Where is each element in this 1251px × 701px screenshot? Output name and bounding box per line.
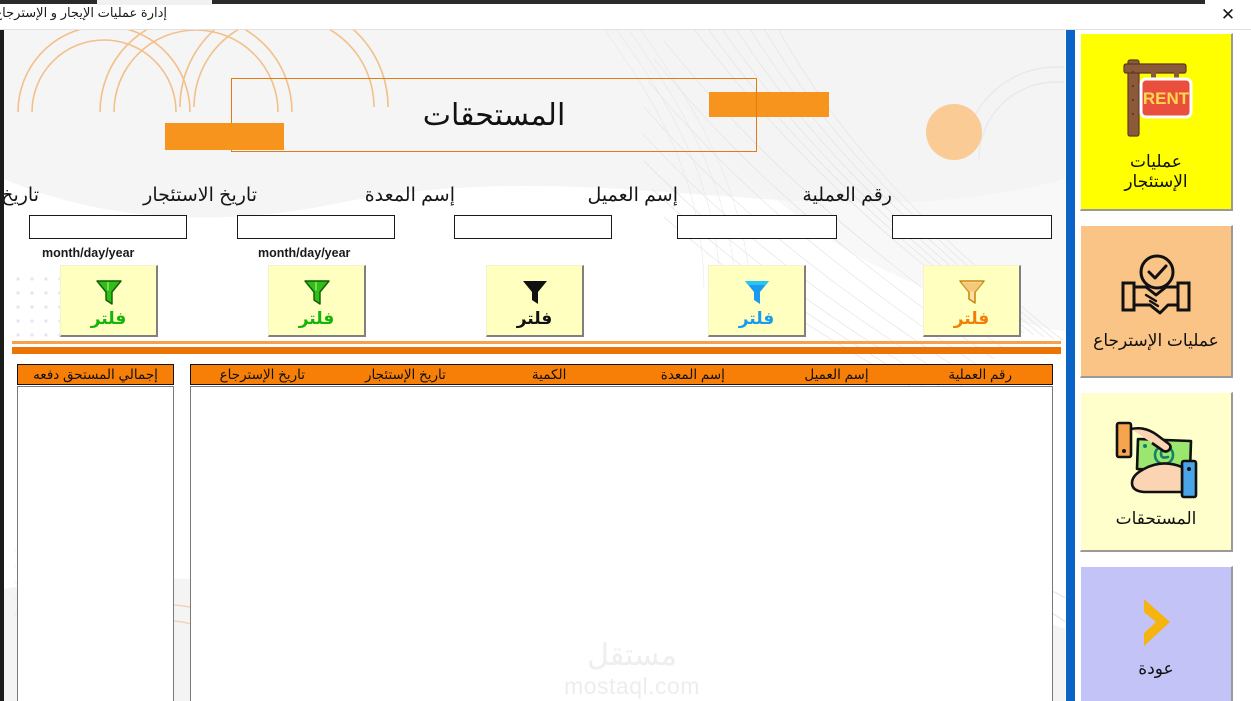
main-content: المستحقات رقم العملية فلتر إسم العميل فل… bbox=[4, 29, 1065, 701]
filter-button-client-name[interactable]: فلتر bbox=[708, 265, 806, 337]
column-header-client-name: إسم العميل bbox=[765, 367, 909, 383]
column-header-equipment-name: إسم المعدة bbox=[621, 367, 765, 383]
handshake-check-icon bbox=[1116, 251, 1196, 327]
column-header-rent-date: تاريخ الإستئجار bbox=[334, 367, 478, 383]
sidebar-item-dues[interactable]: المستحقات bbox=[1080, 392, 1233, 552]
sidebar-item-label: عمليات الإسترجاع bbox=[1093, 331, 1219, 350]
filter-label-return-date: تاريخ الإسترجاع bbox=[4, 184, 39, 207]
main-table-header: رقم العملية إسم العميل إسم المعدة الكمية… bbox=[190, 364, 1053, 385]
filter-hint-return-date: month/day/year bbox=[42, 246, 134, 260]
svg-text:RENT: RENT bbox=[1143, 89, 1190, 108]
filter-button-label: فلتر bbox=[517, 310, 553, 327]
filter-hint-rent-date: month/day/year bbox=[258, 246, 350, 260]
separator-bar bbox=[12, 347, 1061, 354]
filter-label-equipment-name: إسم المعدة bbox=[365, 184, 455, 207]
sidebar-item-label: عودة bbox=[1138, 659, 1173, 678]
rent-sign-icon: RENT bbox=[1110, 52, 1202, 148]
sidebar: RENT عمليات الإستئجار عمليات الإسترجاع bbox=[1080, 33, 1233, 701]
sidebar-item-label: عمليات الإستئجار bbox=[1124, 152, 1187, 190]
filter-input-rent-date[interactable] bbox=[237, 215, 395, 239]
filter-button-rent-date[interactable]: فلتر bbox=[268, 265, 366, 337]
separator-bar-light bbox=[12, 341, 1061, 344]
totals-panel-header: إجمالي المستحق دفعه bbox=[17, 364, 174, 385]
page-title: المستحقات bbox=[231, 78, 757, 152]
main-table-body[interactable] bbox=[190, 386, 1053, 701]
totals-panel-header-label: إجمالي المستحق دفعه bbox=[33, 367, 158, 383]
title-bar: إدارة عمليات الإيجار و الإسترجاع ✕ bbox=[0, 0, 1251, 30]
funnel-icon bbox=[300, 275, 334, 309]
filter-button-return-date[interactable]: فلتر bbox=[60, 265, 158, 337]
funnel-icon bbox=[740, 275, 774, 309]
filter-button-label: فلتر bbox=[299, 310, 335, 327]
filter-input-operation-number[interactable] bbox=[892, 215, 1052, 239]
sidebar-divider bbox=[1065, 29, 1076, 701]
filter-input-client-name[interactable] bbox=[677, 215, 837, 239]
column-header-quantity: الكمية bbox=[477, 367, 621, 383]
filter-input-return-date[interactable] bbox=[29, 215, 187, 239]
sidebar-item-label: المستحقات bbox=[1116, 509, 1197, 528]
filter-label-rent-date: تاريخ الاستئجار bbox=[143, 184, 257, 207]
filter-button-operation-number[interactable]: فلتر bbox=[923, 265, 1021, 337]
chevron-right-icon bbox=[1127, 591, 1185, 655]
totals-panel-list[interactable] bbox=[17, 386, 174, 701]
titlebar-dark-left bbox=[0, 0, 97, 4]
app-window: إدارة عمليات الإيجار و الإسترجاع ✕ bbox=[0, 0, 1251, 701]
close-icon[interactable]: ✕ bbox=[1205, 0, 1251, 29]
filter-input-equipment-name[interactable] bbox=[454, 215, 612, 239]
window-title: إدارة عمليات الإيجار و الإسترجاع bbox=[0, 5, 167, 21]
sidebar-item-back[interactable]: عودة bbox=[1080, 566, 1233, 701]
column-header-operation-number: رقم العملية bbox=[908, 367, 1052, 383]
money-hand-icon bbox=[1108, 415, 1204, 505]
filter-button-label: فلتر bbox=[954, 310, 990, 327]
funnel-icon bbox=[92, 275, 126, 309]
titlebar-dark-right bbox=[212, 0, 1251, 4]
sidebar-item-rental-operations[interactable]: RENT عمليات الإستئجار bbox=[1080, 33, 1233, 211]
filter-button-label: فلتر bbox=[739, 310, 775, 327]
funnel-icon bbox=[955, 275, 989, 309]
filter-label-client-name: إسم العميل bbox=[588, 184, 678, 207]
filter-button-label: فلتر bbox=[91, 310, 127, 327]
column-header-return-date: تاريخ الإسترجاع bbox=[191, 367, 334, 383]
funnel-icon bbox=[518, 275, 552, 309]
filter-label-operation-number: رقم العملية bbox=[802, 184, 892, 207]
filter-button-equipment-name[interactable]: فلتر bbox=[486, 265, 584, 337]
sidebar-item-return-operations[interactable]: عمليات الإسترجاع bbox=[1080, 225, 1233, 378]
